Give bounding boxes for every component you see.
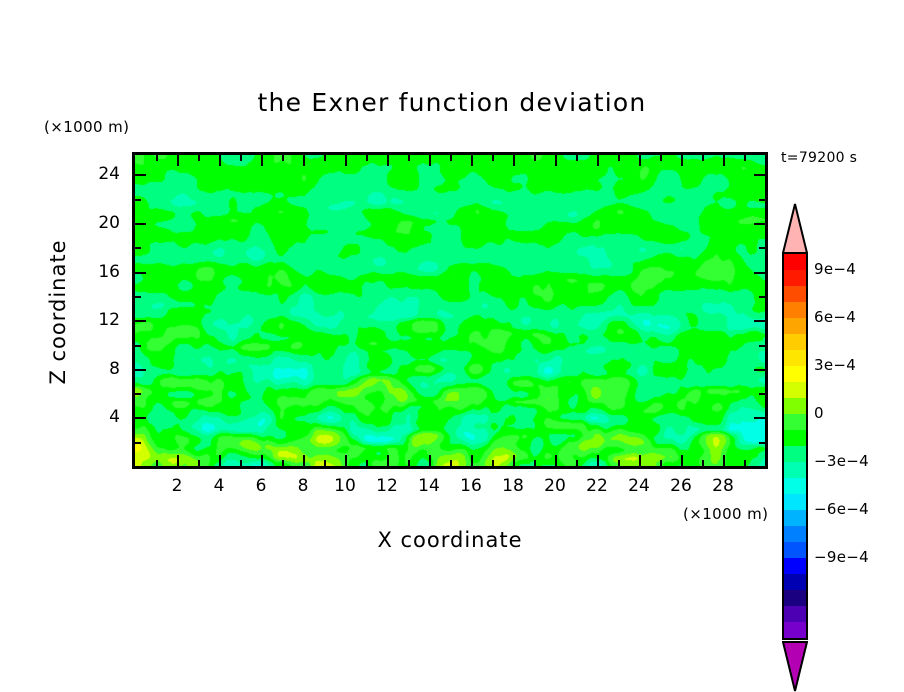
colorbar-band <box>784 286 806 302</box>
colorbar-band <box>784 334 806 350</box>
x-tick-label: 26 <box>661 476 701 496</box>
colorbar-band <box>784 526 806 542</box>
tick-mark <box>387 155 389 166</box>
tick-mark <box>754 272 765 274</box>
tick-mark <box>135 393 141 395</box>
contour-field <box>135 155 765 466</box>
y-tick-label: 24 <box>80 164 120 184</box>
colorbar-band <box>784 510 806 526</box>
colorbar-bands <box>782 252 808 640</box>
tick-mark <box>723 455 725 466</box>
tick-mark <box>198 460 200 466</box>
y-tick-label: 20 <box>80 213 120 233</box>
tick-mark <box>759 345 765 347</box>
tick-mark <box>681 455 683 466</box>
tick-mark <box>754 320 765 322</box>
tick-mark <box>135 442 141 444</box>
tick-mark <box>754 417 765 419</box>
tick-mark <box>471 455 473 466</box>
tick-mark <box>135 296 141 298</box>
colorbar-band <box>784 590 806 606</box>
x-tick-label: 2 <box>157 476 197 496</box>
tick-mark <box>219 155 221 166</box>
tick-mark <box>282 460 284 466</box>
x-tick-label: 4 <box>199 476 239 496</box>
tick-mark <box>198 155 200 161</box>
tick-mark <box>744 155 746 161</box>
tick-mark <box>324 155 326 161</box>
colorbar-band <box>784 494 806 510</box>
tick-mark <box>618 155 620 161</box>
colorbar: 9e−46e−43e−40−3e−4−6e−4−9e−4 <box>778 203 898 513</box>
plot-area <box>132 152 768 469</box>
tick-mark <box>576 155 578 161</box>
tick-mark <box>282 155 284 161</box>
x-tick-label: 6 <box>241 476 281 496</box>
y-tick-label: 16 <box>80 262 120 282</box>
x-tick-label: 28 <box>703 476 743 496</box>
tick-mark <box>618 460 620 466</box>
x-tick-label: 24 <box>619 476 659 496</box>
tick-mark <box>450 155 452 161</box>
tick-mark <box>177 455 179 466</box>
x-axis-unit-label: (×1000 m) <box>683 505 768 523</box>
x-tick-label: 12 <box>367 476 407 496</box>
z-axis-unit-label: (×1000 m) <box>44 118 129 136</box>
colorbar-band <box>784 302 806 318</box>
tick-mark <box>759 393 765 395</box>
tick-mark <box>408 155 410 161</box>
tick-mark <box>597 455 599 466</box>
tick-mark <box>345 455 347 466</box>
colorbar-cap-bottom <box>782 640 808 692</box>
tick-mark <box>492 155 494 161</box>
y-axis-title: Z coordinate <box>46 212 70 412</box>
x-tick-label: 22 <box>577 476 617 496</box>
tick-mark <box>135 247 141 249</box>
tick-mark <box>639 155 641 166</box>
plot-title: the Exner function deviation <box>0 88 904 117</box>
colorbar-band <box>784 382 806 398</box>
colorbar-band <box>784 542 806 558</box>
tick-mark <box>240 460 242 466</box>
colorbar-band <box>784 350 806 366</box>
tick-mark <box>702 460 704 466</box>
x-axis-title: X coordinate <box>132 528 768 552</box>
tick-mark <box>681 155 683 166</box>
tick-mark <box>366 155 368 161</box>
tick-mark <box>513 455 515 466</box>
tick-mark <box>639 455 641 466</box>
tick-mark <box>135 369 146 371</box>
colorbar-band <box>784 254 806 270</box>
x-tick-label: 16 <box>451 476 491 496</box>
tick-mark <box>744 460 746 466</box>
y-tick-label: 12 <box>80 310 120 330</box>
colorbar-tick-label: −6e−4 <box>814 500 869 518</box>
x-tick-label: 8 <box>283 476 323 496</box>
tick-mark <box>660 155 662 161</box>
tick-mark <box>723 155 725 166</box>
tick-mark <box>754 369 765 371</box>
tick-mark <box>366 460 368 466</box>
tick-mark <box>576 460 578 466</box>
tick-mark <box>492 460 494 466</box>
tick-mark <box>135 417 146 419</box>
x-tick-label: 10 <box>325 476 365 496</box>
tick-mark <box>387 455 389 466</box>
time-annotation: t=79200 s <box>781 150 857 166</box>
colorbar-band <box>784 462 806 478</box>
tick-mark <box>345 155 347 166</box>
tick-mark <box>324 460 326 466</box>
colorbar-band <box>784 622 806 638</box>
y-tick-label: 4 <box>80 407 120 427</box>
tick-mark <box>135 199 141 201</box>
tick-mark <box>219 455 221 466</box>
tick-mark <box>759 247 765 249</box>
tick-mark <box>754 223 765 225</box>
colorbar-tick-label: 3e−4 <box>814 356 856 374</box>
colorbar-band <box>784 366 806 382</box>
tick-mark <box>261 155 263 166</box>
tick-mark <box>156 460 158 466</box>
tick-mark <box>261 455 263 466</box>
tick-mark <box>429 455 431 466</box>
colorbar-tick-label: −3e−4 <box>814 452 869 470</box>
tick-mark <box>135 345 141 347</box>
tick-mark <box>471 155 473 166</box>
tick-mark <box>759 199 765 201</box>
tick-mark <box>240 155 242 161</box>
tick-mark <box>555 155 557 166</box>
tick-mark <box>135 320 146 322</box>
colorbar-tick-label: 9e−4 <box>814 260 856 278</box>
colorbar-band <box>784 446 806 462</box>
colorbar-band <box>784 574 806 590</box>
tick-mark <box>156 155 158 161</box>
colorbar-band <box>784 478 806 494</box>
tick-mark <box>754 174 765 176</box>
tick-mark <box>759 296 765 298</box>
x-tick-label: 14 <box>409 476 449 496</box>
colorbar-band <box>784 558 806 574</box>
tick-mark <box>702 155 704 161</box>
colorbar-band <box>784 414 806 430</box>
colorbar-band <box>784 430 806 446</box>
tick-mark <box>177 155 179 166</box>
tick-mark <box>555 455 557 466</box>
tick-mark <box>597 155 599 166</box>
x-tick-label: 20 <box>535 476 575 496</box>
tick-mark <box>534 155 536 161</box>
colorbar-cap-top <box>782 203 808 255</box>
tick-mark <box>303 155 305 166</box>
colorbar-band <box>784 398 806 414</box>
tick-mark <box>450 460 452 466</box>
tick-mark <box>135 223 146 225</box>
tick-mark <box>759 442 765 444</box>
tick-mark <box>429 155 431 166</box>
colorbar-tick-label: 0 <box>814 404 824 422</box>
tick-mark <box>303 455 305 466</box>
x-tick-label: 18 <box>493 476 533 496</box>
y-tick-label: 8 <box>80 359 120 379</box>
tick-mark <box>534 460 536 466</box>
tick-mark <box>135 174 146 176</box>
tick-mark <box>408 460 410 466</box>
colorbar-band <box>784 318 806 334</box>
tick-mark <box>135 272 146 274</box>
colorbar-band <box>784 606 806 622</box>
colorbar-band <box>784 270 806 286</box>
colorbar-tick-label: −9e−4 <box>814 548 869 566</box>
tick-mark <box>660 460 662 466</box>
colorbar-tick-label: 6e−4 <box>814 308 856 326</box>
tick-mark <box>513 155 515 166</box>
